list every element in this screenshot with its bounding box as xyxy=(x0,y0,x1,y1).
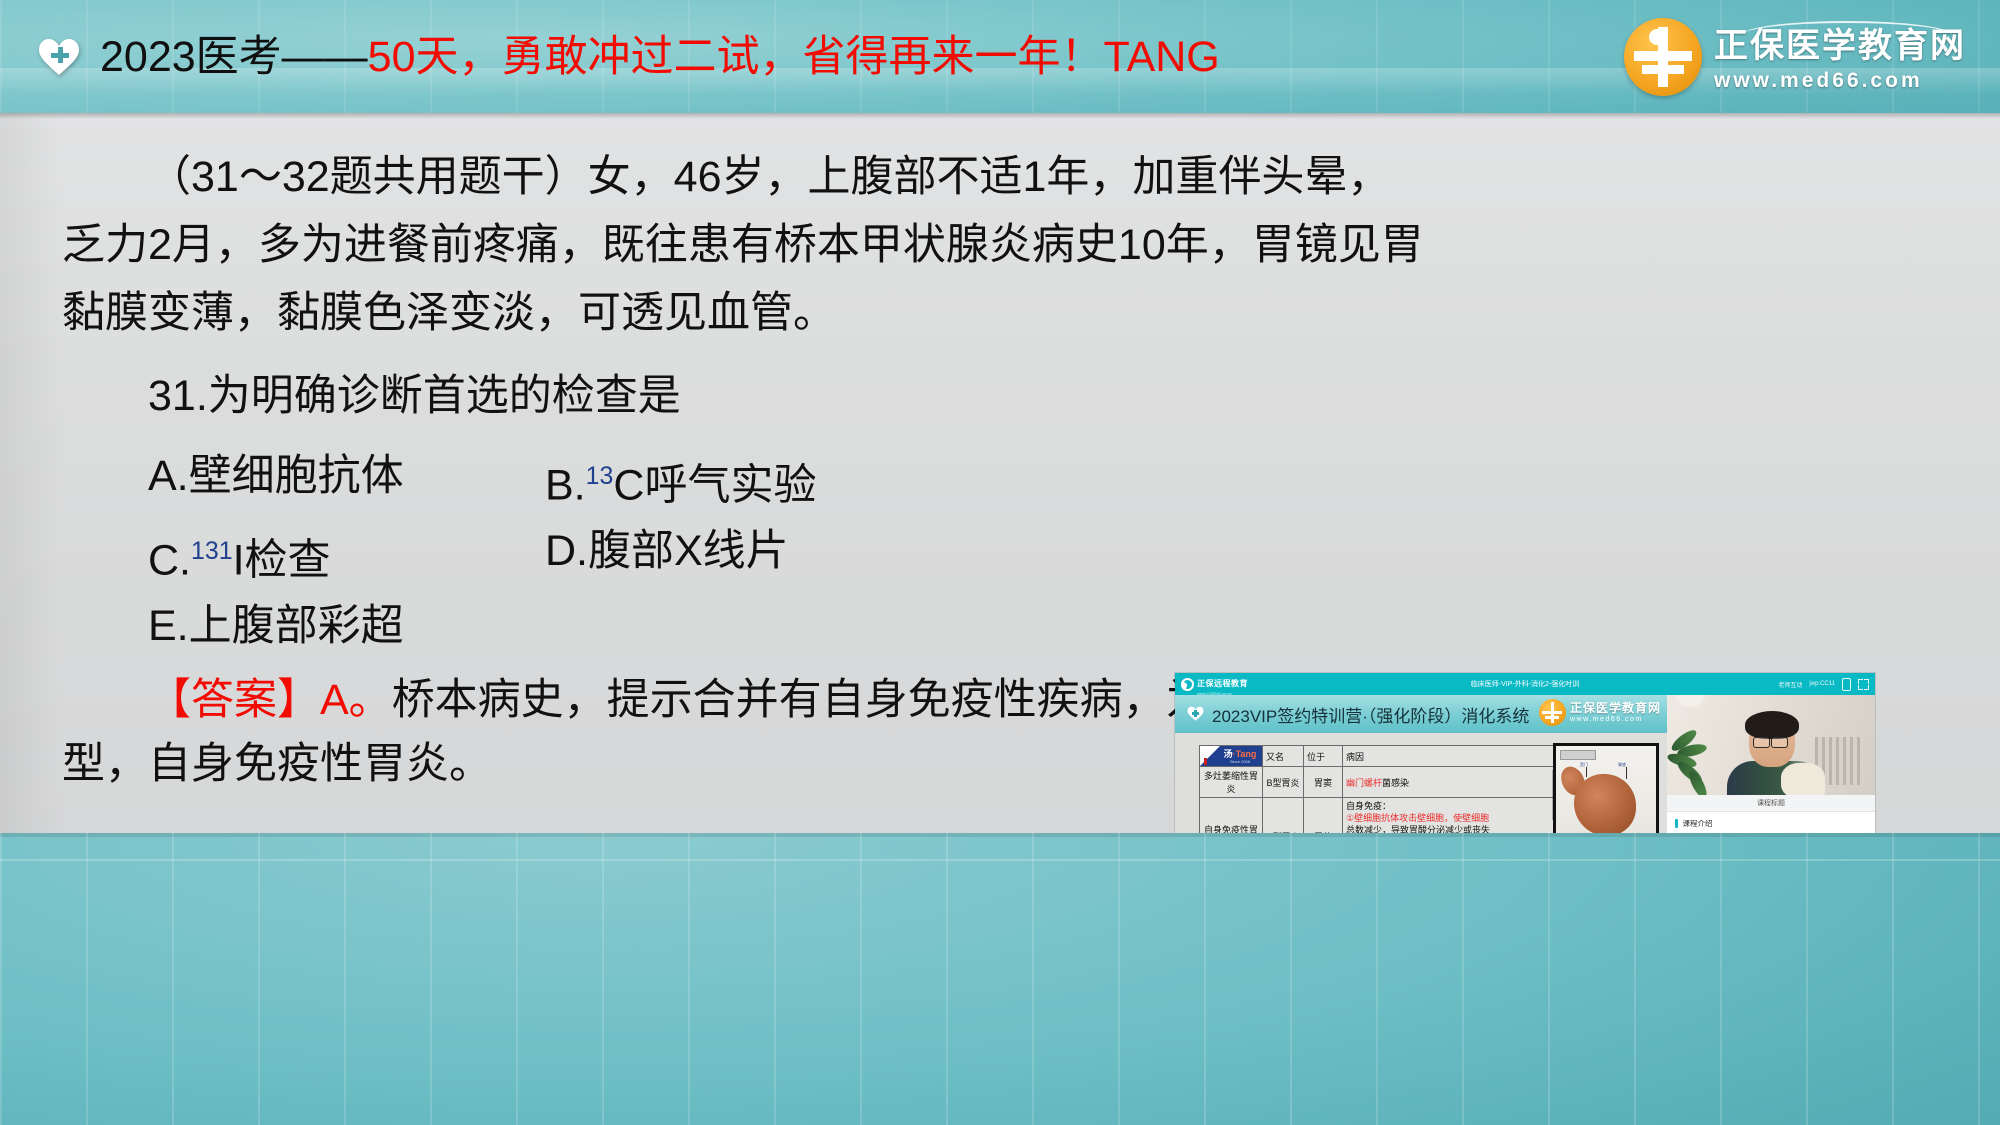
teacher-figure xyxy=(1729,715,1821,795)
swirl-logo-icon xyxy=(1181,678,1194,691)
question-stem: （31～32题共用题干）女，46岁，上腹部不适1年，加重伴头晕， 乏力2月，多为… xyxy=(62,143,1942,347)
embed-slide-title: 2023VIP签约特训营·（强化阶段）消化系统 xyxy=(1212,702,1529,727)
embed-interaction-label[interactable]: 老师互动 xyxy=(1778,680,1802,689)
logo-website: www.med66.com xyxy=(1714,70,1966,91)
option-d[interactable]: D.腹部X线片 xyxy=(545,521,789,581)
anat-label-right: 胃底 xyxy=(1618,762,1626,768)
banner-title: 2023医考——50天，勇敢冲过二试，省得再来一年！TANG xyxy=(100,30,1220,84)
top-banner: 2023医考——50天，勇敢冲过二试，省得再来一年！TANG 正保医学教育网 w… xyxy=(0,0,2000,113)
stem-line-1: （31～32题共用题干）女，46岁，上腹部不适1年，加重伴头晕， xyxy=(148,153,1390,201)
option-c-key: C. xyxy=(148,536,191,584)
footer-grid-pattern xyxy=(0,833,2000,1125)
answer-tag: 【答案】 xyxy=(148,676,320,724)
option-a-key: A. xyxy=(148,452,189,500)
embed-logo-name: 正保远程教育 xyxy=(1197,679,1248,688)
option-b-superscript: 13 xyxy=(586,462,614,490)
row1-alias: B型胃炎 xyxy=(1263,767,1304,798)
embed-stage-logo: 正保医学教育网 www.med66.com xyxy=(1539,699,1661,726)
option-b-key: B. xyxy=(545,461,586,509)
bottom-banner xyxy=(0,833,2000,1125)
option-b-text: C呼气实验 xyxy=(613,461,816,509)
row2-site: 胃体 xyxy=(1304,798,1343,834)
answer-explain-2: 型，自身免疫性胃炎。 xyxy=(62,740,492,788)
row1-cause-rest: 菌感染 xyxy=(1382,778,1409,788)
option-a-text: 壁细胞抗体 xyxy=(189,452,404,500)
option-d-text: 腹部X线片 xyxy=(588,527,789,575)
brand-since: Since 2008 xyxy=(1218,759,1262,764)
row2-alias: A型胃炎 xyxy=(1263,798,1304,834)
teacher-webcam-video[interactable] xyxy=(1667,695,1875,795)
option-c-superscript: 131 xyxy=(191,537,233,565)
orange-cross-logo-icon xyxy=(1624,18,1702,96)
question-31-title: 31.为明确诊断首选的检查是 xyxy=(148,366,681,426)
embed-brand: 正保远程教育 www.CDENG.co.cn xyxy=(1181,673,1248,696)
embed-stage-logo-url: www.med66.com xyxy=(1570,716,1661,723)
option-e[interactable]: E.上腹部彩超 xyxy=(148,596,404,656)
orange-cross-logo-icon xyxy=(1539,699,1566,726)
list-item[interactable]: 课程介绍 xyxy=(1675,818,1867,829)
heart-plus-icon xyxy=(1187,706,1204,722)
expand-icon[interactable] xyxy=(1858,679,1869,690)
embed-slide-stage: 2023VIP签约特训营·（强化阶段）消化系统 正保医学教育网 www.med6… xyxy=(1175,695,1667,833)
row1-cause-red: 幽门螺杆 xyxy=(1346,778,1382,788)
option-c[interactable]: C.131I检查 xyxy=(148,521,331,590)
option-e-key: E. xyxy=(148,602,189,650)
outline-item-intro: 课程介绍 xyxy=(1683,818,1713,829)
course-outline-list: 课程介绍 上课时间 7月22日 19:00–22:19 课程大纲 xyxy=(1667,812,1875,833)
embed-slide-header: 2023VIP签约特训营·（强化阶段）消化系统 正保医学教育网 www.med6… xyxy=(1175,695,1667,733)
embed-topbar: 正保远程教育 www.CDENG.co.cn 临床医师-VIP-外科-消化2-强… xyxy=(1175,673,1875,695)
option-b[interactable]: B.13C呼气实验 xyxy=(545,446,816,515)
brand-cell: 汤·Tang Since 2008 xyxy=(1200,746,1263,767)
row2-name: 自身免疫性胃炎 xyxy=(1200,798,1263,834)
embed-stage-logo-name: 正保医学教育网 xyxy=(1570,702,1661,714)
embed-course-breadcrumb: 临床医师-VIP-外科-消化2-强化吋训 xyxy=(1471,679,1580,689)
option-d-key: D. xyxy=(545,527,588,575)
phone-icon[interactable] xyxy=(1842,678,1851,691)
embed-side-panel: 课程标题 课程介绍 上课时间 7月22日 19:00–22:19 xyxy=(1667,695,1875,833)
logo-arc xyxy=(1742,21,1952,35)
option-a[interactable]: A.壁细胞抗体 xyxy=(148,446,404,506)
heart-plus-icon xyxy=(38,36,80,78)
row1-site: 胃窦 xyxy=(1304,767,1343,798)
banner-title-red: 50天，勇敢冲过二试，省得再来一年！TANG xyxy=(368,33,1220,81)
embed-slide-content: 汤·Tang Since 2008 又名 位于 病因 多灶萎缩性胃炎 B型胃炎 xyxy=(1175,733,1667,833)
plus-horizontal xyxy=(51,53,69,58)
side-panel-caption: 课程标题 xyxy=(1667,795,1875,812)
brand-name: 汤·Tang xyxy=(1218,749,1262,759)
answer-letter: A。 xyxy=(320,676,392,724)
stomach-anatomy-image: 贲门 胃底 括约肌 xyxy=(1553,743,1659,833)
accent-bar-icon xyxy=(1675,819,1678,828)
footer-divider xyxy=(0,859,2000,861)
embed-user-id: jwp:CC11 xyxy=(1809,681,1835,687)
col-header-site: 位于 xyxy=(1304,746,1343,767)
stem-line-3: 黏膜变薄，黏膜色泽变淡，可透见血管。 xyxy=(62,289,836,337)
option-e-text: 上腹部彩超 xyxy=(189,602,404,650)
banner-title-black: 2023医考—— xyxy=(100,33,368,81)
slide-body: （31～32题共用题干）女，46岁，上腹部不适1年，加重伴头晕， 乏力2月，多为… xyxy=(0,113,2000,833)
brand-logo: 正保医学教育网 www.med66.com xyxy=(1624,16,1966,98)
plant-decor xyxy=(1667,729,1721,795)
col-header-alias: 又名 xyxy=(1263,746,1304,767)
embedded-player-screenshot[interactable]: 正保远程教育 www.CDENG.co.cn 临床医师-VIP-外科-消化2-强… xyxy=(1175,673,1875,833)
option-c-text: I检查 xyxy=(233,536,331,584)
stem-line-2: 乏力2月，多为进餐前疼痛，既往患有桥本甲状腺炎病史10年，胃镜见胃 xyxy=(62,221,1424,269)
row1-name: 多灶萎缩性胃炎 xyxy=(1200,767,1263,798)
